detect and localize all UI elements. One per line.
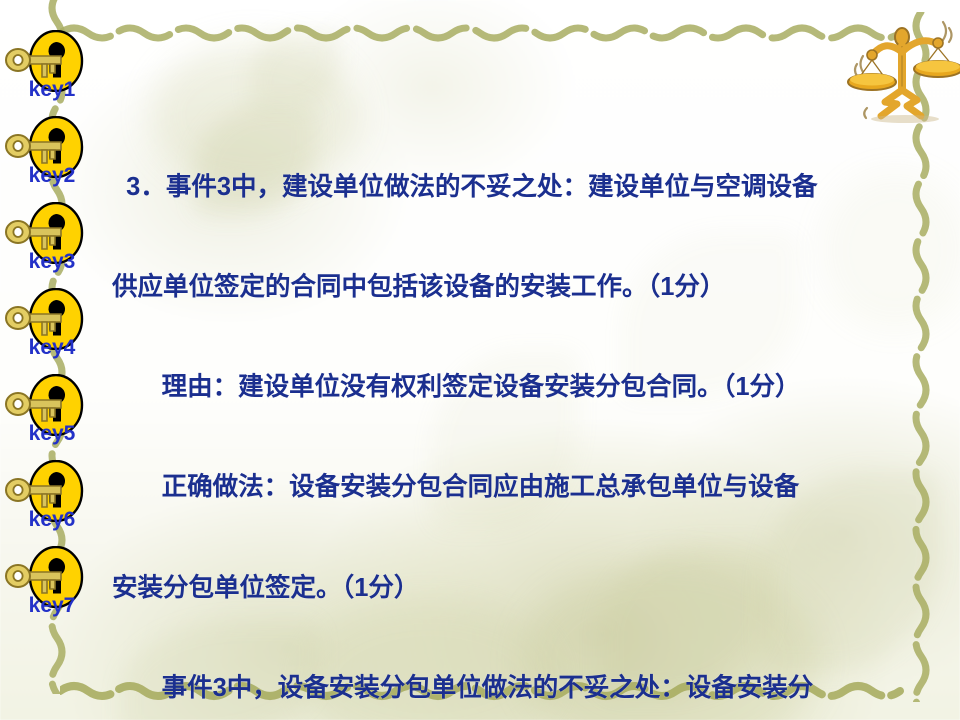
key-item-label: key2 (0, 164, 104, 188)
key-item-4[interactable]: key4 (0, 288, 112, 374)
body-line: 事件3中，设备安装分包单位做法的不妥之处：设备安装分 (112, 672, 940, 705)
key-item-label: key4 (0, 336, 104, 360)
body-line: 供应单位签定的合同中包括该设备的安装工作。（1分） (112, 271, 940, 304)
key-item-label: key1 (0, 78, 104, 102)
key-item-6[interactable]: key6 (0, 460, 112, 546)
slide-body-text: 3．事件3中，建设单位做法的不妥之处：建设单位与空调设备 供应单位签定的合同中包… (112, 104, 940, 720)
key-item-3[interactable]: key3 (0, 202, 112, 288)
key-item-1[interactable]: key1 (0, 30, 112, 116)
key-item-label: key5 (0, 422, 104, 446)
body-line: 安装分包单位签定。（1分） (112, 572, 940, 605)
key-item-label: key3 (0, 250, 104, 274)
body-line: 理由：建设单位没有权利签定设备安装分包合同。（1分） (112, 371, 940, 404)
body-line: 正确做法：设备安装分包合同应由施工总承包单位与设备 (112, 471, 940, 504)
key-item-7[interactable]: key7 (0, 546, 112, 632)
key-item-5[interactable]: key5 (0, 374, 112, 460)
key-item-label: key7 (0, 594, 104, 618)
key-sidebar: key1 key2 key3 (0, 30, 112, 632)
slide-canvas: key1 key2 key3 (0, 0, 960, 720)
body-line: 3．事件3中，建设单位做法的不妥之处：建设单位与空调设备 (112, 171, 940, 204)
key-item-2[interactable]: key2 (0, 116, 112, 202)
wavy-line-horizontal-top (60, 18, 920, 44)
key-item-label: key6 (0, 508, 104, 532)
